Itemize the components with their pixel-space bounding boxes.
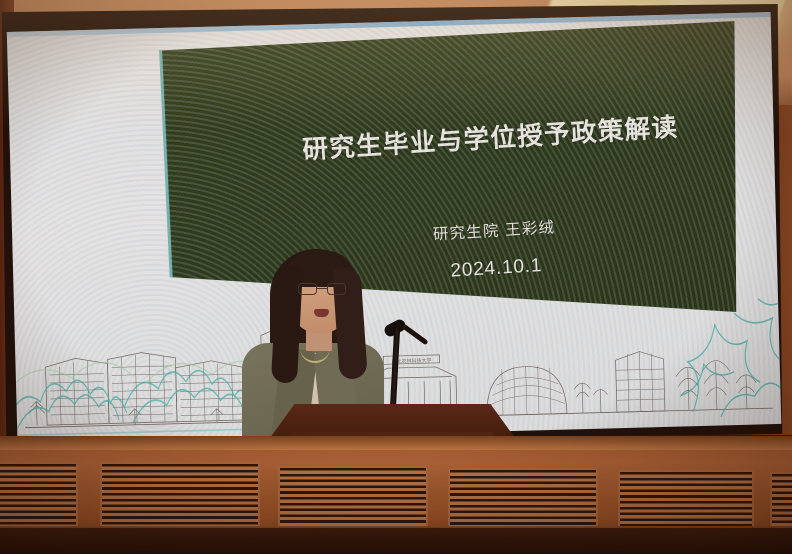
- lower-wall-rail: [0, 436, 792, 450]
- louvered-acoustic-panel: [100, 462, 260, 534]
- louvered-acoustic-panel: [770, 472, 792, 534]
- university-logo: 大学 UNIVERSITY: [286, 12, 417, 39]
- louvered-acoustic-panel: [278, 466, 428, 534]
- louvered-acoustic-panel: [0, 462, 78, 534]
- louvered-acoustic-panel: [618, 470, 754, 534]
- baseboard: [0, 528, 792, 554]
- glasses-icon: [298, 283, 346, 295]
- mouth: [314, 309, 329, 317]
- lecture-hall-photo: 大学 UNIVERSITY 研究生毕业与学位授予政策解读 研究生院 王彩绒 20…: [0, 0, 792, 554]
- university-logo-en: UNIVERSITY: [308, 14, 363, 25]
- louvered-acoustic-panel: [448, 468, 598, 534]
- swirl-ornament-right: [675, 326, 782, 421]
